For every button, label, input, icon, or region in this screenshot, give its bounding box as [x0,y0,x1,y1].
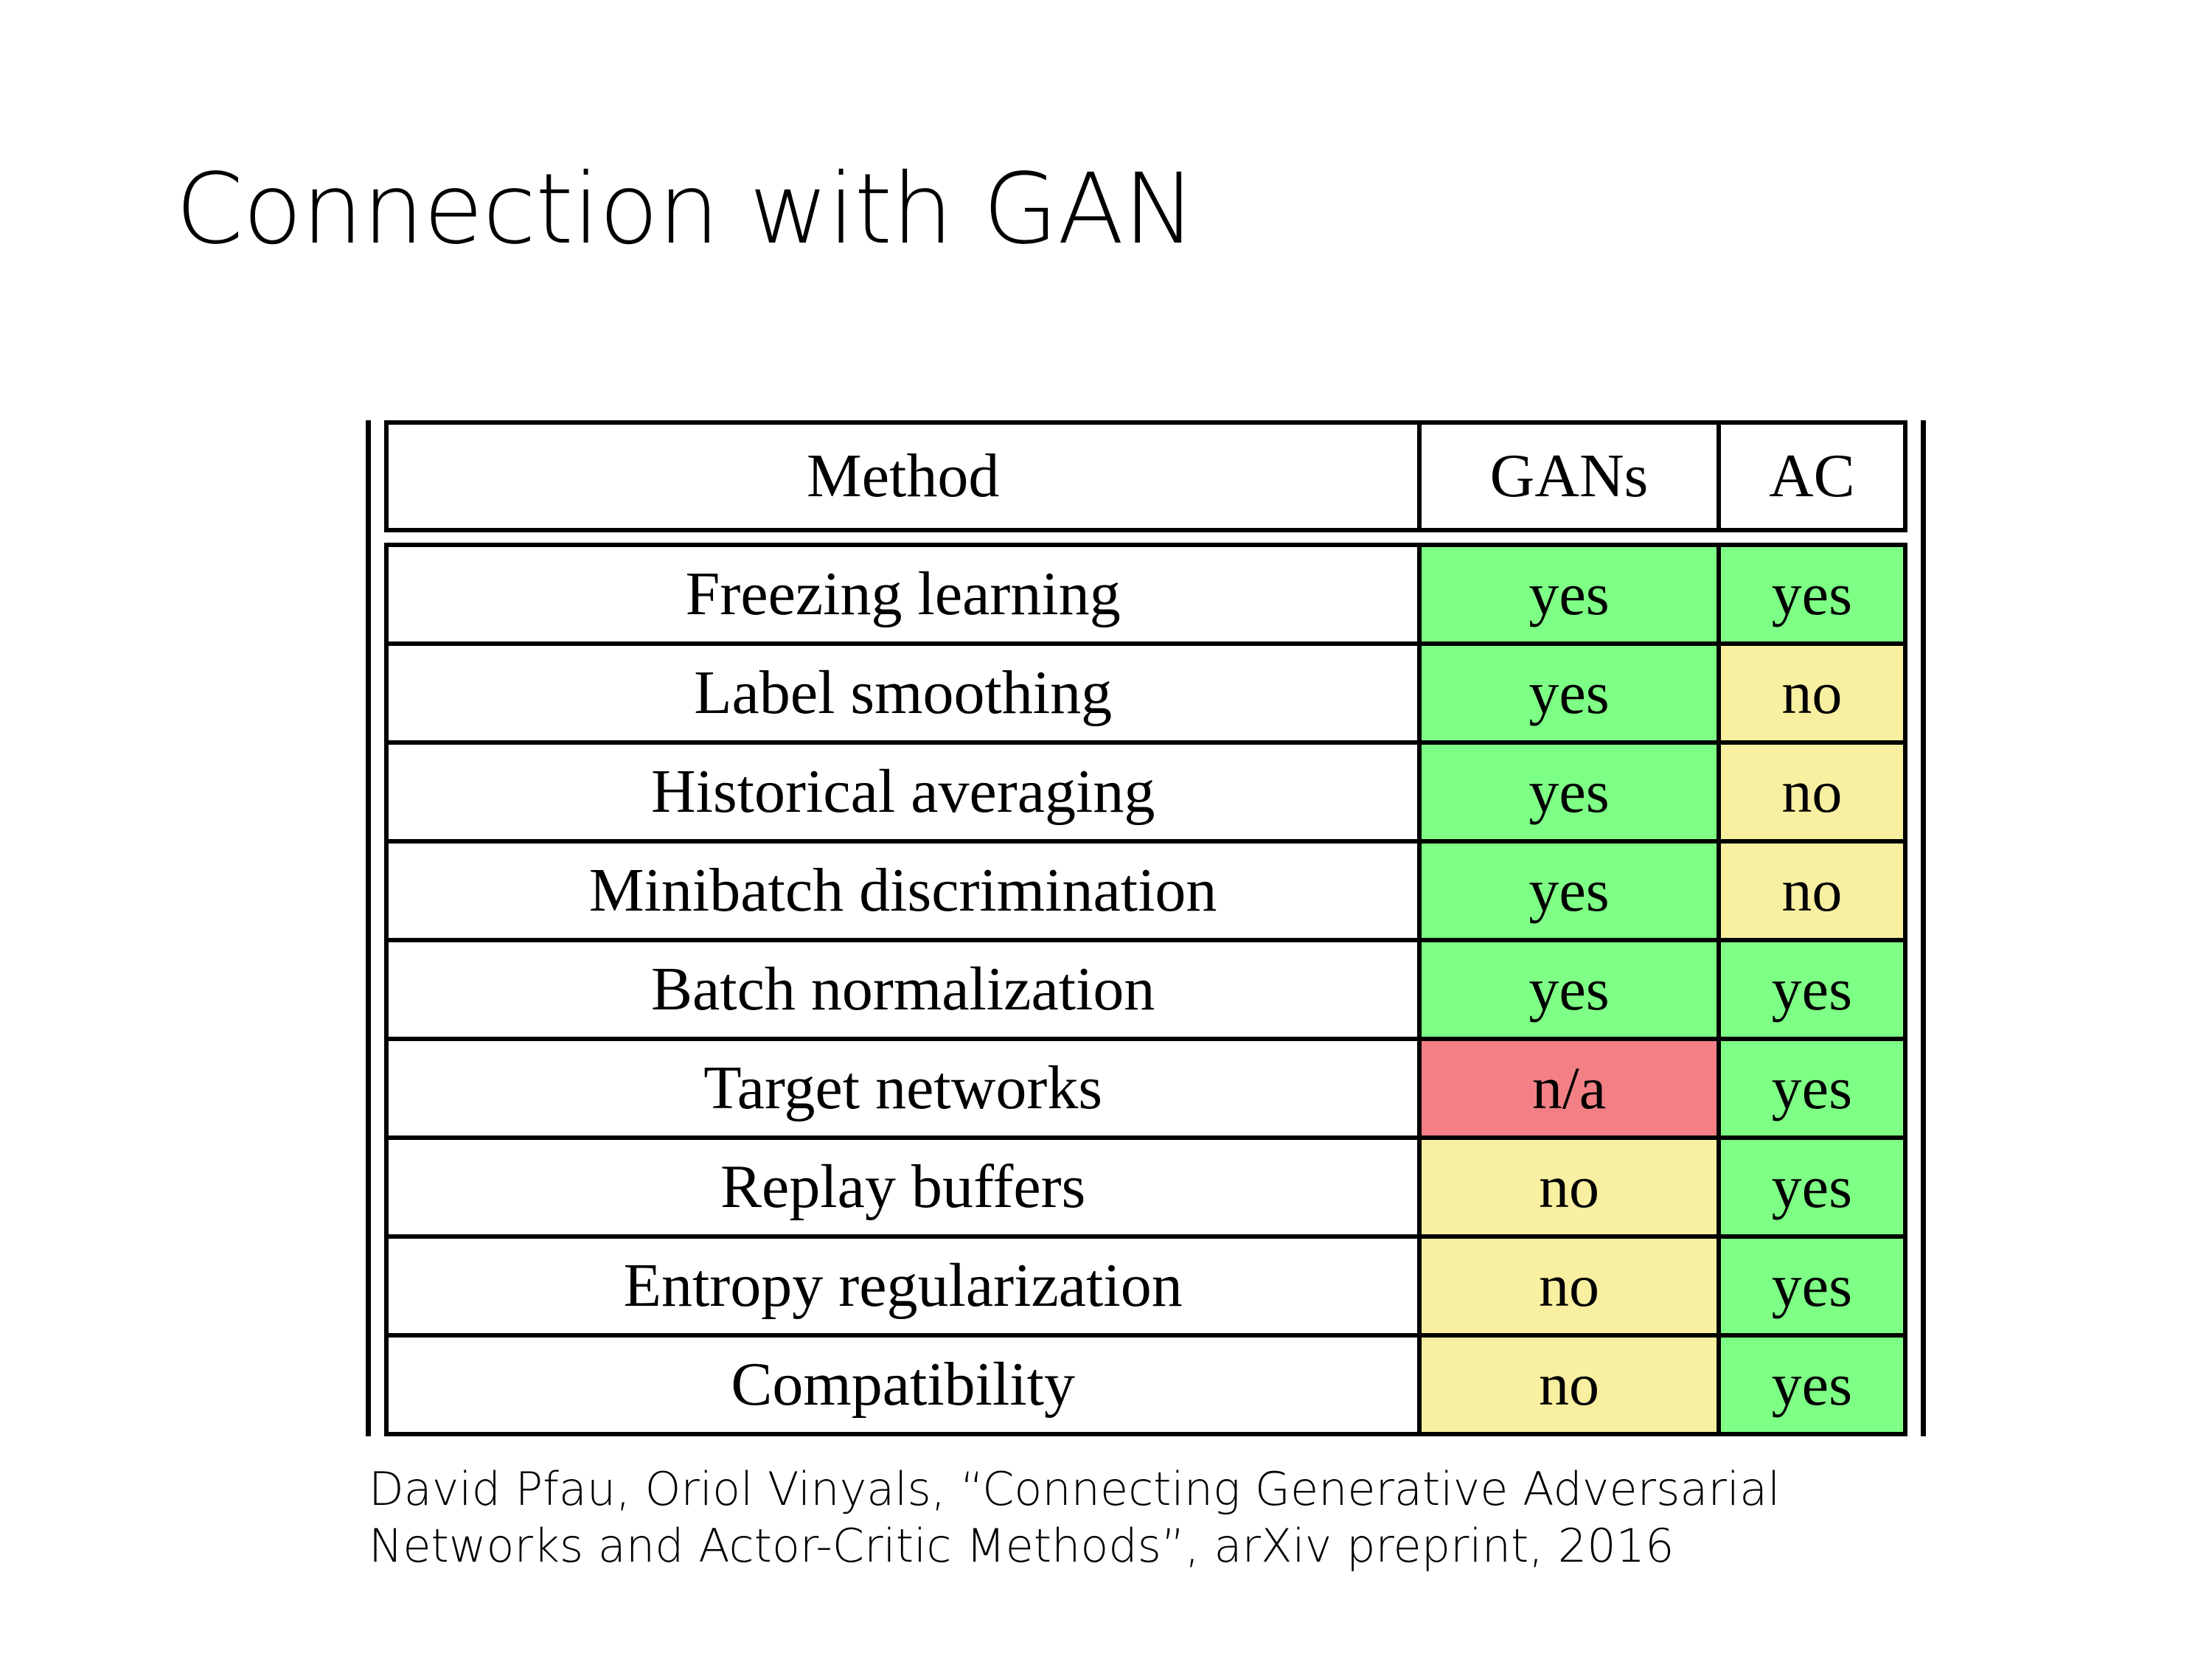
cell-method: Replay buffers [386,1138,1419,1237]
cell-gans: no [1419,1335,1718,1434]
cell-gans: yes [1419,742,1718,841]
comparison-table: Method GANs AC Freezing learningyesyesLa… [366,420,1926,1436]
cell-method: Minibatch discrimination [386,841,1419,940]
cell-gans: yes [1419,841,1718,940]
cell-ac: yes [1719,1237,1905,1335]
table-outer-rules: Method GANs AC Freezing learningyesyesLa… [366,420,1926,1436]
cell-ac: yes [1719,545,1905,644]
page-title: Connection with GAN [175,159,1195,261]
cell-gans: yes [1419,940,1718,1039]
cell-method: Compatibility [386,1335,1419,1434]
table-row: Historical averagingyesno [386,742,1905,841]
cell-gans: n/a [1419,1039,1718,1138]
cell-ac: yes [1719,1335,1905,1434]
cell-ac: no [1719,742,1905,841]
cell-method: Batch normalization [386,940,1419,1039]
cell-ac: yes [1719,940,1905,1039]
cell-gans: yes [1419,545,1718,644]
cell-method: Entropy regularization [386,1237,1419,1335]
table-header-row: Method GANs AC [386,422,1905,530]
cell-ac: no [1719,841,1905,940]
cell-ac: yes [1719,1039,1905,1138]
cell-gans: no [1419,1138,1718,1237]
column-header-ac: AC [1719,422,1905,530]
table-row: Batch normalizationyesyes [386,940,1905,1039]
cell-gans: yes [1419,644,1718,742]
table-row: Minibatch discriminationyesno [386,841,1905,940]
table-row: Target networksn/ayes [386,1039,1905,1138]
citation-line-2: Networks and Actor-Critic Methods”, arXi… [369,1518,1917,1575]
table-row: Freezing learningyesyes [386,545,1905,644]
table-body: Freezing learningyesyesLabel smoothingye… [384,543,1907,1436]
table-row: Entropy regularizationnoyes [386,1237,1905,1335]
table-row: Replay buffersnoyes [386,1138,1905,1237]
table-header: Method GANs AC [384,420,1907,532]
table-row: Compatibilitynoyes [386,1335,1905,1434]
table-row: Label smoothingyesno [386,644,1905,742]
header-body-divider [384,532,1907,543]
citation-line-1: David Pfau, Oriol Vinyals, “Connecting G… [369,1461,1917,1518]
cell-gans: no [1419,1237,1718,1335]
cell-method: Label smoothing [386,644,1419,742]
column-header-gans: GANs [1419,422,1718,530]
cell-method: Freezing learning [386,545,1419,644]
cell-method: Historical averaging [386,742,1419,841]
cell-ac: yes [1719,1138,1905,1237]
column-header-method: Method [386,422,1419,530]
cell-ac: no [1719,644,1905,742]
citation-caption: David Pfau, Oriol Vinyals, “Connecting G… [369,1461,1917,1575]
cell-method: Target networks [386,1039,1419,1138]
